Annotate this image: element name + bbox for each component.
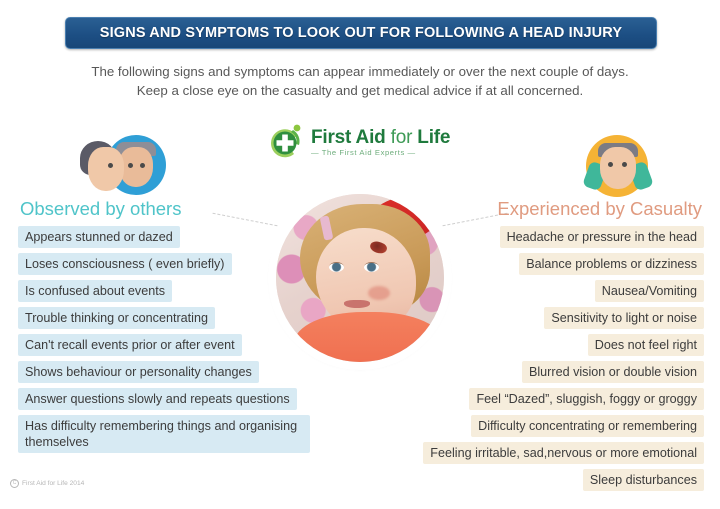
- logo-text: First Aid for Life — The First Aid Exper…: [311, 128, 450, 158]
- list-item: Blurred vision or double vision: [522, 361, 704, 383]
- observers-avatar-icon: [62, 133, 170, 199]
- list-item: Nausea/Vomiting: [595, 280, 704, 302]
- photo-eye-right: [364, 262, 379, 272]
- subtitle-line-2: Keep a close eye on the casualty and get…: [0, 81, 720, 100]
- logo-name-part2: Life: [417, 127, 450, 148]
- copyright-footer: C First Aid for Life 2014: [10, 479, 84, 488]
- list-item: Can't recall events prior or after event: [18, 334, 242, 356]
- list-item: Headache or pressure in the head: [500, 226, 704, 248]
- green-cross-logo-icon: [263, 123, 307, 163]
- photo-eye-left: [329, 262, 344, 272]
- photo-mouth: [344, 300, 370, 308]
- list-item: Loses consciousness ( even briefly): [18, 253, 232, 275]
- photo-cheek-bruise: [368, 286, 390, 300]
- avatar-back-eye-left: [128, 163, 133, 168]
- photo-shirt: [294, 312, 444, 362]
- casualty-avatar-icon: [578, 133, 656, 199]
- brand-logo: First Aid for Life — The First Aid Exper…: [263, 122, 459, 164]
- avatar-front-eye: [108, 163, 113, 168]
- subtitle-block: The following signs and symptoms can app…: [0, 62, 720, 100]
- right-column-heading: Experienced by Casualty: [497, 198, 702, 220]
- avatar-back-eye-right: [140, 163, 145, 168]
- list-item: Trouble thinking or concentrating: [18, 307, 215, 329]
- connector-line-left: [213, 213, 278, 227]
- list-item: Difficulty concentrating or remembering: [471, 415, 704, 437]
- list-item: Answer questions slowly and repeats ques…: [18, 388, 297, 410]
- list-item: Appears stunned or dazed: [18, 226, 180, 248]
- observed-symptoms-list: Appears stunned or dazed Loses conscious…: [18, 226, 310, 453]
- list-item: Sensitivity to light or noise: [544, 307, 704, 329]
- list-item: Does not feel right: [588, 334, 704, 356]
- list-item: Balance problems or dizziness: [519, 253, 704, 275]
- title-banner: SIGNS AND SYMPTOMS TO LOOK OUT FOR FOLLO…: [65, 17, 657, 49]
- list-item: Has difficulty remembering things and or…: [18, 415, 310, 453]
- avatar-casualty-face: [600, 147, 636, 189]
- subtitle-line-1: The following signs and symptoms can app…: [0, 62, 720, 81]
- copyright-icon: C: [10, 479, 19, 488]
- list-item: Feeling irritable, sad,nervous or more e…: [423, 442, 704, 464]
- infographic-page: SIGNS AND SYMPTOMS TO LOOK OUT FOR FOLLO…: [0, 0, 720, 509]
- page-title: SIGNS AND SYMPTOMS TO LOOK OUT FOR FOLLO…: [100, 25, 622, 41]
- logo-tagline: — The First Aid Experts —: [311, 148, 450, 158]
- avatar-casualty-eye-left: [608, 162, 613, 167]
- avatar-back-face: [119, 147, 153, 187]
- casualty-symptoms-list: Headache or pressure in the head Balance…: [423, 226, 704, 491]
- logo-name: First Aid for Life: [311, 128, 450, 148]
- list-item: Feel “Dazed”, sluggish, foggy or groggy: [469, 388, 704, 410]
- logo-name-connector: for: [386, 127, 418, 148]
- logo-name-part1: First Aid: [311, 127, 386, 148]
- copyright-text: First Aid for Life 2014: [22, 480, 84, 487]
- avatar-casualty-eye-right: [622, 162, 627, 167]
- list-item: Is confused about events: [18, 280, 172, 302]
- list-item: Sleep disturbances: [583, 469, 704, 491]
- left-column-heading: Observed by others: [20, 198, 181, 220]
- list-item: Shows behaviour or personality changes: [18, 361, 259, 383]
- avatar-front-face: [88, 147, 124, 191]
